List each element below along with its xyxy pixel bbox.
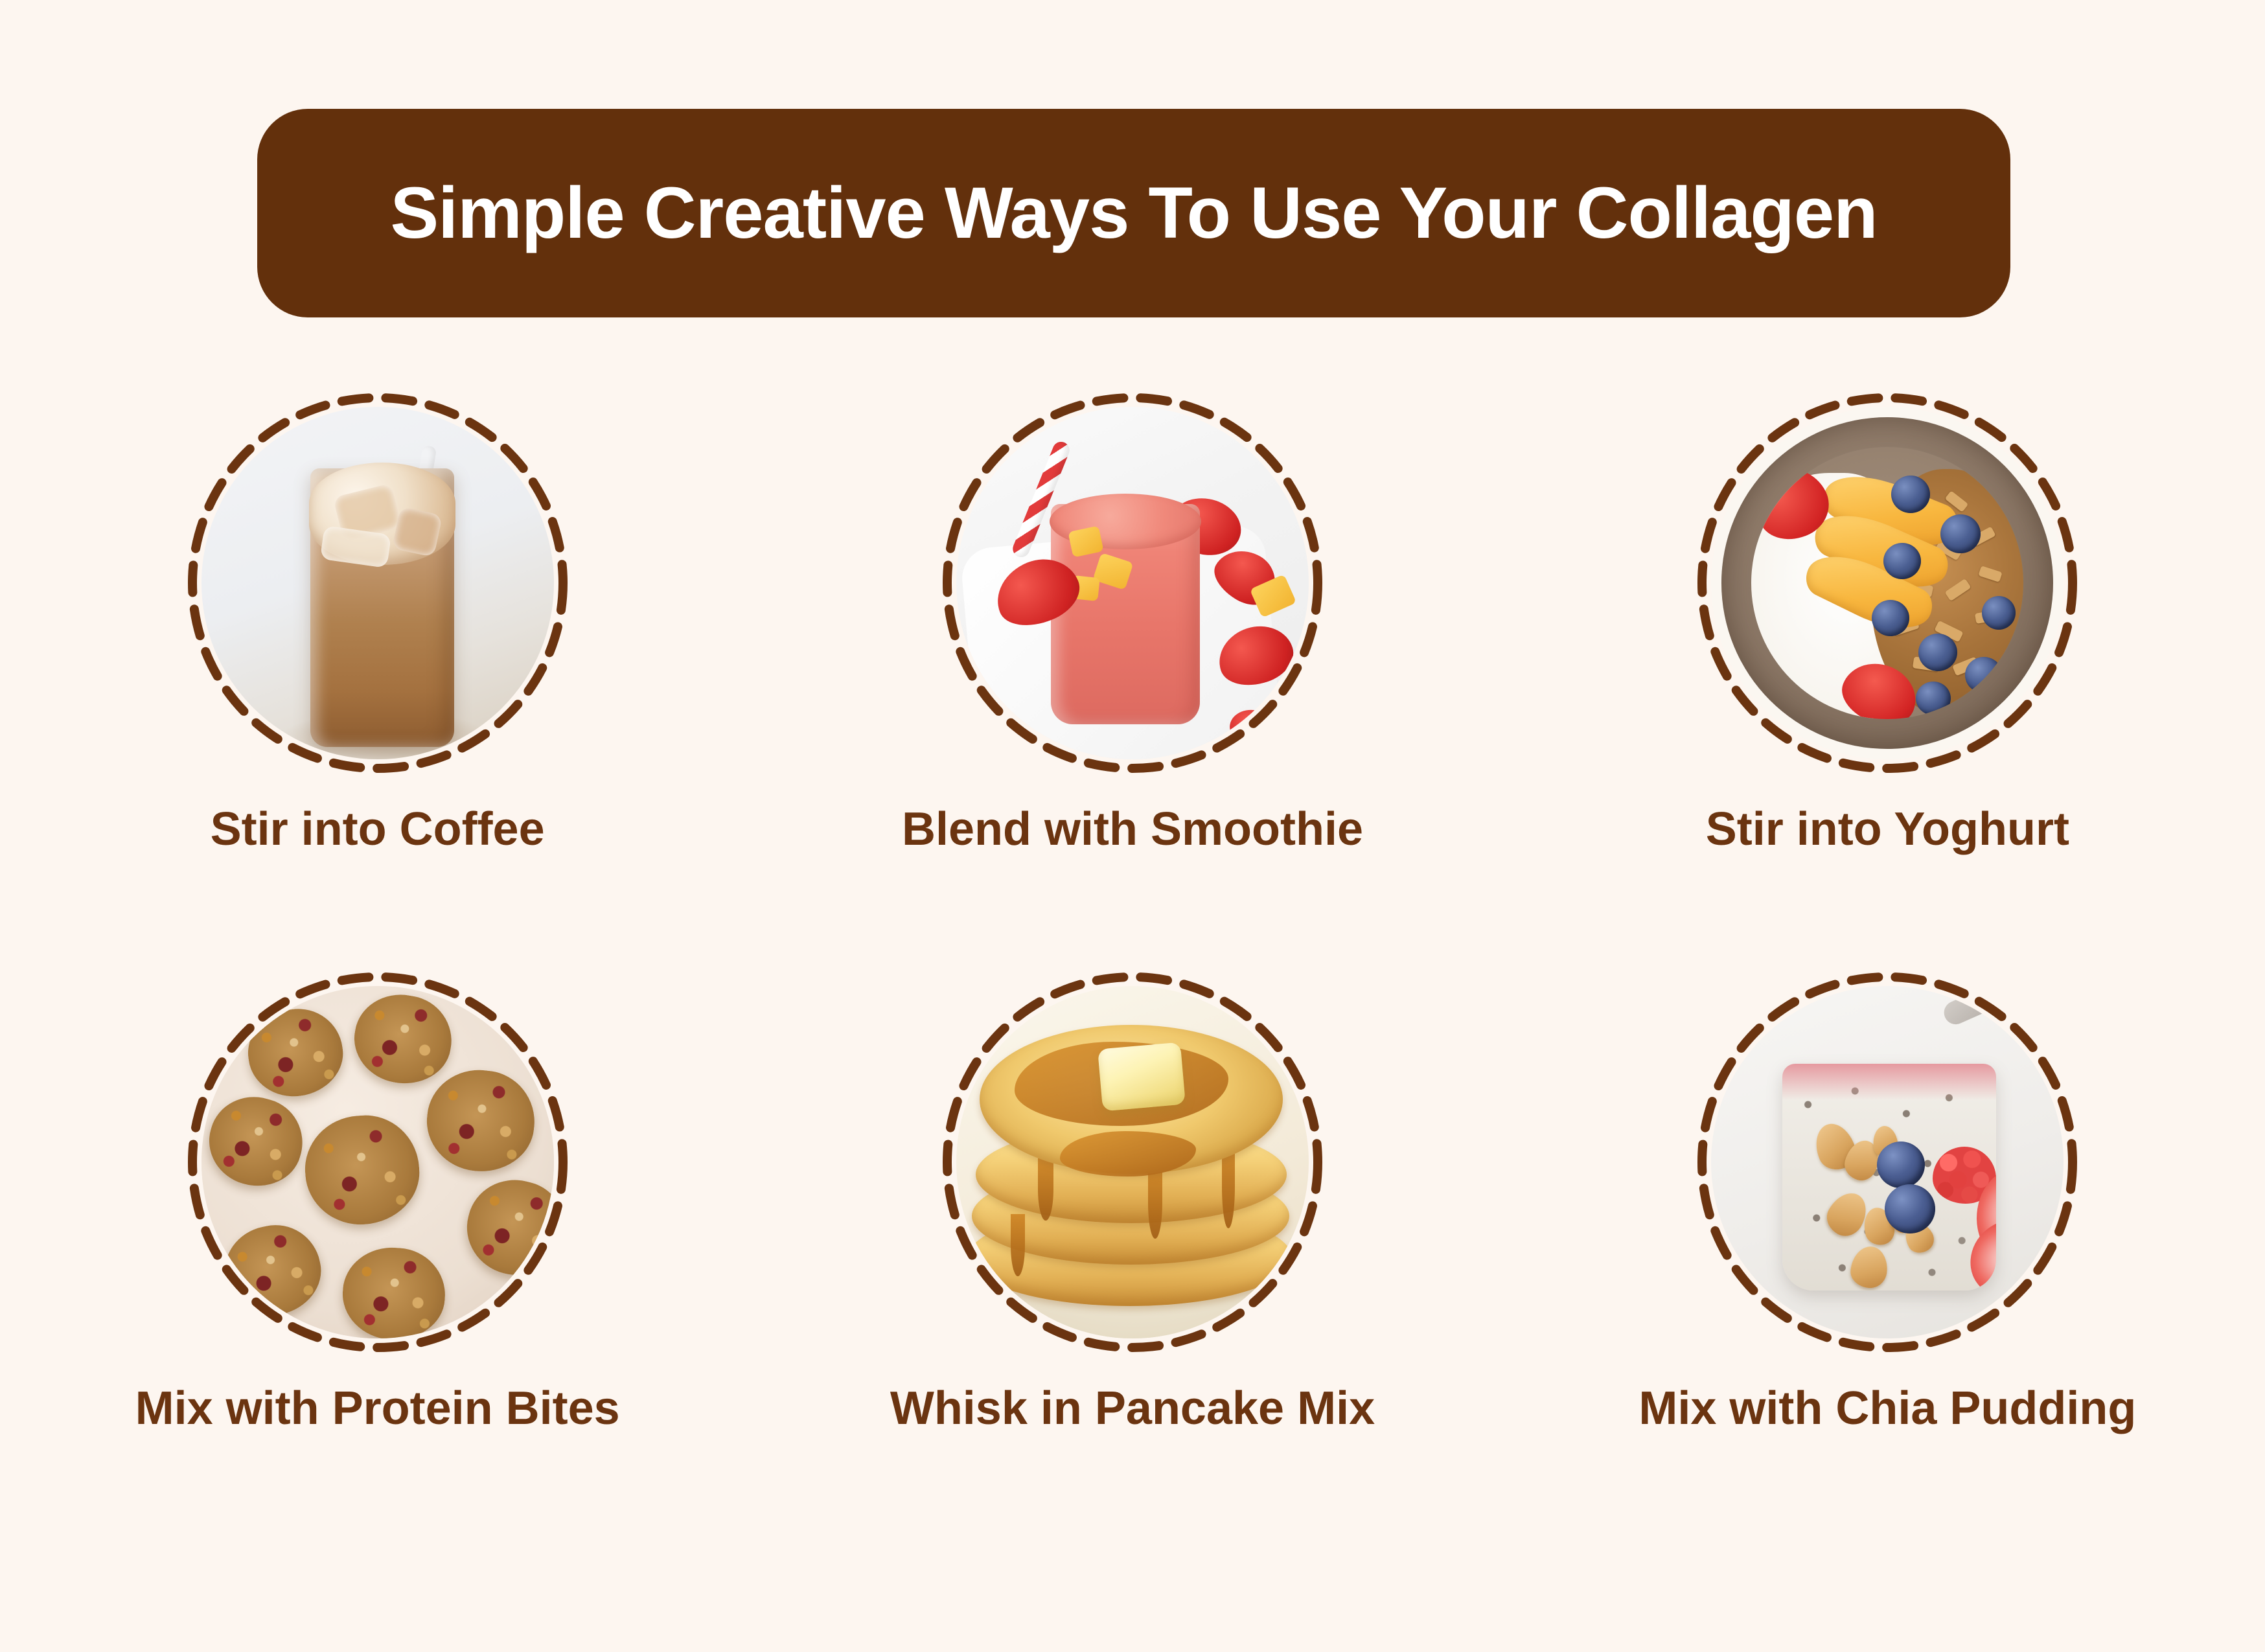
use-label-chia: Mix with Chia Pudding [1638, 1385, 2136, 1432]
use-label-coffee: Stir into Coffee [211, 806, 545, 853]
use-card-chia[interactable]: Mix with Chia Pudding [1510, 968, 2265, 1432]
use-image-coffee [183, 389, 572, 777]
yoghurt-bowl-photo [1711, 407, 2064, 759]
pancake-stack-photo [956, 986, 1309, 1338]
chia-pudding-photo [1711, 986, 2064, 1338]
use-label-pancakes: Whisk in Pancake Mix [890, 1385, 1375, 1432]
use-card-coffee[interactable]: Stir into Coffee [0, 389, 755, 853]
use-label-yoghurt: Stir into Yoghurt [1706, 806, 2069, 853]
smoothie-photo [956, 407, 1309, 759]
use-card-smoothie[interactable]: Blend with Smoothie [755, 389, 1510, 853]
use-image-smoothie [938, 389, 1327, 777]
iced-coffee-photo [201, 407, 554, 759]
title-banner: Simple Creative Ways To Use Your Collage… [257, 109, 2010, 317]
protein-bites-photo [201, 986, 554, 1338]
use-image-chia [1693, 968, 2082, 1357]
use-label-protein-bites: Mix with Protein Bites [135, 1385, 620, 1432]
page-title: Simple Creative Ways To Use Your Collage… [390, 177, 1877, 249]
use-card-protein-bites[interactable]: Mix with Protein Bites [0, 968, 755, 1432]
use-card-pancakes[interactable]: Whisk in Pancake Mix [755, 968, 1510, 1432]
use-image-yoghurt [1693, 389, 2082, 777]
use-card-yoghurt[interactable]: Stir into Yoghurt [1510, 389, 2265, 853]
use-image-protein-bites [183, 968, 572, 1357]
use-image-pancakes [938, 968, 1327, 1357]
uses-grid: Stir into Coffee [0, 389, 2265, 1432]
use-label-smoothie: Blend with Smoothie [902, 806, 1363, 853]
